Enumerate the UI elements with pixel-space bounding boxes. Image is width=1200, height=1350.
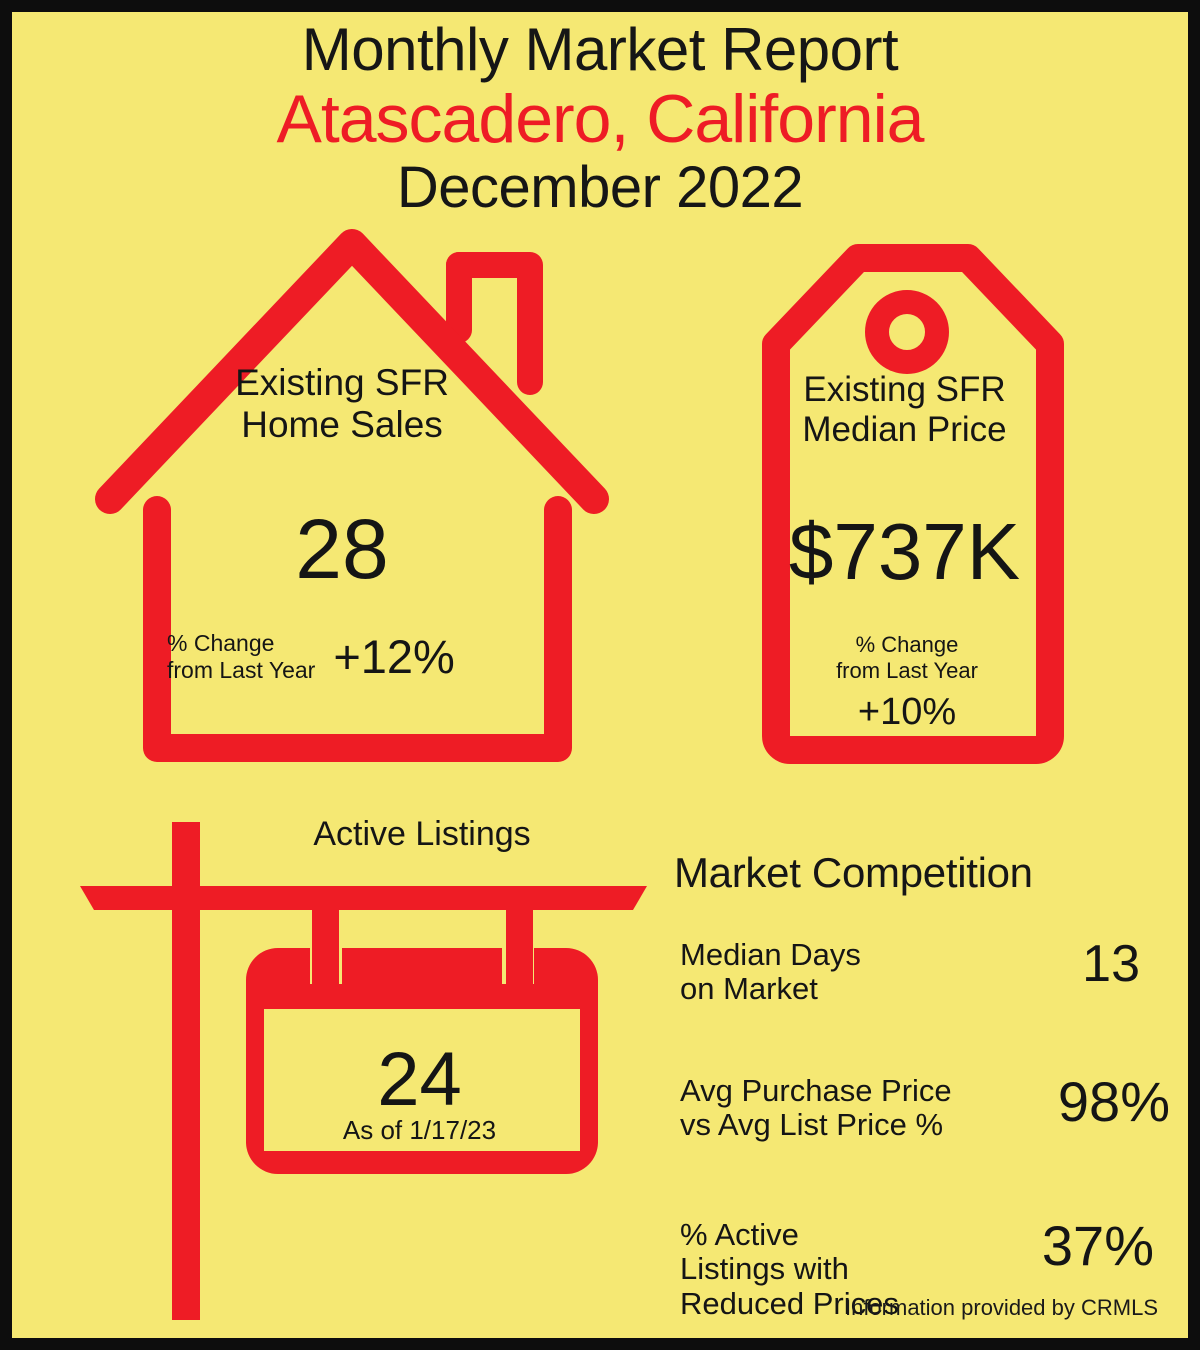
home-sales-change-value: +12% bbox=[333, 633, 455, 680]
median-price-title-line2: Median Price bbox=[757, 410, 1052, 450]
active-listings-title: Active Listings bbox=[242, 817, 602, 851]
metric-label: Median Days on Market bbox=[652, 938, 1068, 1006]
home-sales-change-label-line2: from Last Year bbox=[167, 657, 315, 684]
metric-value: 98% bbox=[1044, 1074, 1176, 1130]
metric-value: 37% bbox=[1028, 1218, 1176, 1274]
metric-label-line1: % Active bbox=[680, 1218, 1028, 1252]
median-price-change: % Change from Last Year +10% bbox=[762, 632, 1052, 736]
median-price-value: $737K bbox=[757, 512, 1052, 592]
metric-label-line2: Listings with bbox=[680, 1252, 1028, 1286]
median-price-change-label: % Change from Last Year bbox=[762, 632, 1052, 685]
metric-label-line1: Median Days bbox=[680, 938, 1068, 972]
infographic-canvas: Monthly Market Report Atascadero, Califo… bbox=[12, 12, 1188, 1338]
median-price-title-line1: Existing SFR bbox=[757, 370, 1052, 410]
sign-arm bbox=[80, 886, 647, 910]
metric-label-line2: vs Avg List Price % bbox=[680, 1108, 1044, 1142]
median-price-title: Existing SFR Median Price bbox=[757, 370, 1052, 450]
home-sales-title: Existing SFR Home Sales bbox=[132, 362, 552, 446]
metric-label: Avg Purchase Price vs Avg List Price % bbox=[652, 1074, 1044, 1142]
home-sales-title-line2: Home Sales bbox=[132, 404, 552, 446]
price-tag-hole-icon bbox=[877, 302, 937, 362]
home-sales-change: % Change from Last Year +12% bbox=[167, 630, 537, 683]
median-price-change-label-line1: % Change bbox=[762, 632, 1052, 658]
footer-attribution: Information provided by CRMLS bbox=[652, 1295, 1172, 1321]
active-listings-as-of: As of 1/17/23 bbox=[267, 1117, 572, 1143]
home-sales-change-label: % Change from Last Year bbox=[167, 630, 315, 683]
home-sales-change-label-line1: % Change bbox=[167, 630, 315, 657]
metric-label-line1: Avg Purchase Price bbox=[680, 1074, 1044, 1108]
median-price-change-value: +10% bbox=[762, 689, 1052, 737]
metric-label-line2: on Market bbox=[680, 972, 1068, 1006]
home-sales-value: 28 bbox=[132, 507, 552, 591]
market-competition-row: Median Days on Market 13 bbox=[652, 938, 1176, 1006]
active-listings-value: 24 bbox=[267, 1042, 572, 1118]
market-competition-row: Avg Purchase Price vs Avg List Price % 9… bbox=[652, 1074, 1176, 1142]
home-sales-title-line1: Existing SFR bbox=[132, 362, 552, 404]
metric-value: 13 bbox=[1068, 938, 1176, 990]
median-price-change-label-line2: from Last Year bbox=[762, 658, 1052, 684]
market-competition-title: Market Competition bbox=[652, 852, 1176, 894]
market-competition-panel: Market Competition Median Days on Market… bbox=[652, 852, 1176, 1321]
